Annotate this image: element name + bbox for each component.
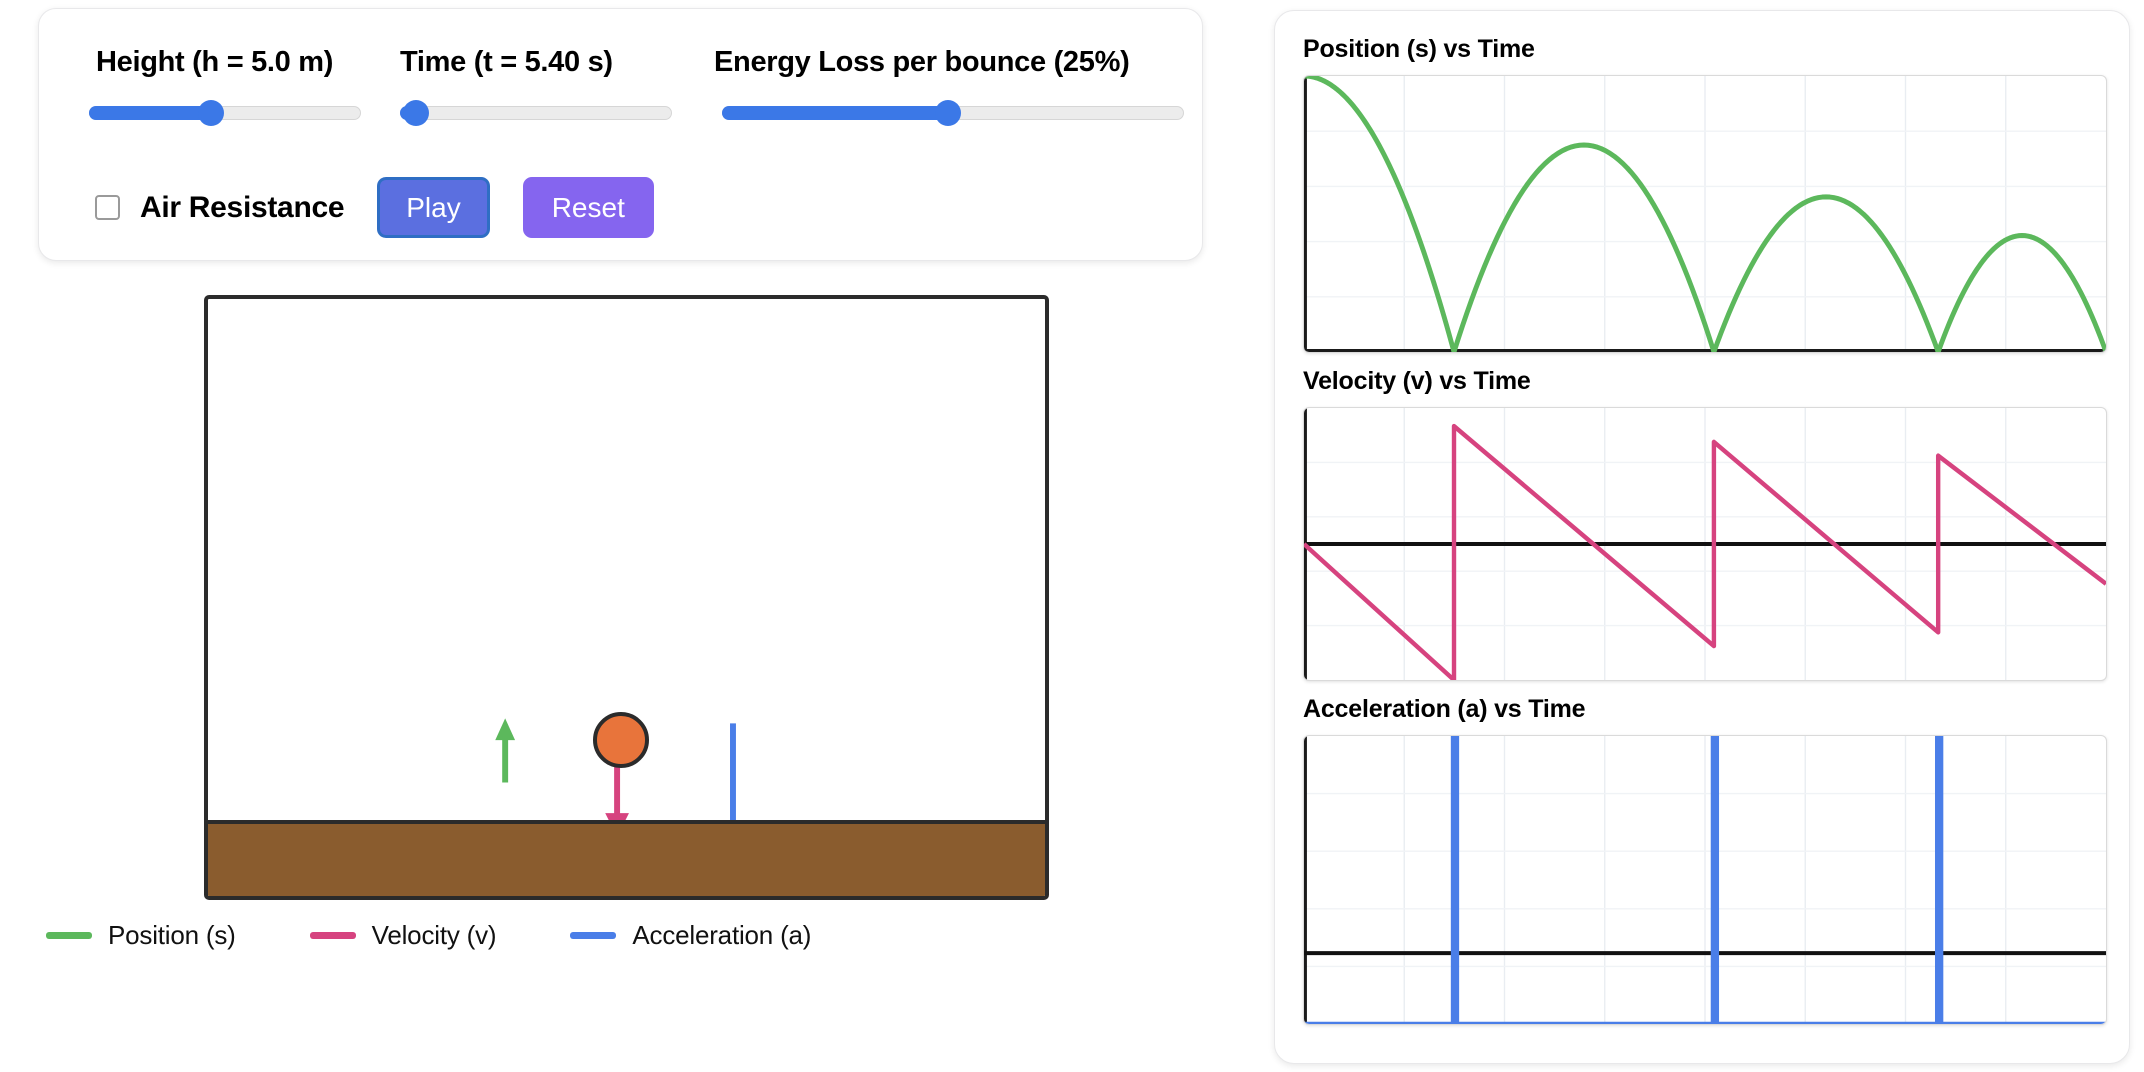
legend-label-position: Position (s): [108, 920, 236, 951]
air-resistance-checkbox[interactable]: [95, 195, 120, 220]
energy-loss-slider-thumb[interactable]: [935, 100, 961, 126]
legend-label-velocity: Velocity (v): [372, 920, 497, 951]
vector-arrows: [208, 299, 1045, 896]
velocity-chart-block: Velocity (v) vs Time: [1303, 367, 2107, 681]
slider-row: Height (h = 5.0 m) Time (t = 5.40 s): [63, 45, 1184, 125]
play-button[interactable]: Play: [377, 177, 489, 238]
velocity-chart-title: Velocity (v) vs Time: [1303, 367, 2107, 396]
acceleration-chart: [1304, 736, 2106, 1024]
time-slider-track[interactable]: [400, 106, 672, 120]
time-slider-group: Time (t = 5.40 s): [398, 45, 681, 125]
position-arrow: [495, 718, 515, 782]
left-column: Height (h = 5.0 m) Time (t = 5.40 s): [8, 8, 1236, 1064]
velocity-chart: [1304, 408, 2106, 680]
acceleration-color-swatch: [570, 932, 616, 939]
energy-loss-slider-label: Energy Loss per bounce (25%): [714, 45, 1184, 79]
ground: [208, 820, 1045, 896]
energy-loss-slider-fill: [722, 106, 948, 120]
acceleration-chart-title: Acceleration (a) vs Time: [1303, 695, 2107, 724]
velocity-color-swatch: [310, 932, 356, 939]
time-slider-label: Time (t = 5.40 s): [400, 45, 681, 79]
bouncing-ball: [593, 712, 649, 768]
position-chart-title: Position (s) vs Time: [1303, 35, 2107, 64]
simulation-canvas[interactable]: [204, 295, 1049, 900]
energy-loss-slider-group: Energy Loss per bounce (25%): [714, 45, 1184, 125]
position-chart-block: Position (s) vs Time: [1303, 35, 2107, 353]
legend-item-velocity: Velocity (v): [310, 920, 497, 951]
toggle-row: Air Resistance Play Reset: [95, 177, 654, 238]
height-slider-thumb[interactable]: [198, 100, 224, 126]
air-resistance-label: Air Resistance: [140, 191, 344, 225]
charts-panel: Position (s) vs Time Velocity (v) vs Tim…: [1274, 10, 2130, 1064]
legend-label-acceleration: Acceleration (a): [632, 920, 811, 951]
position-chart-frame: [1303, 75, 2107, 353]
reset-button[interactable]: Reset: [523, 177, 654, 238]
height-slider-group: Height (h = 5.0 m): [63, 45, 361, 125]
height-slider-fill: [89, 106, 211, 120]
legend-item-position: Position (s): [46, 920, 236, 951]
height-slider-label: Height (h = 5.0 m): [96, 45, 361, 79]
time-slider[interactable]: [400, 101, 672, 125]
legend: Position (s) Velocity (v) Acceleration (…: [46, 920, 885, 951]
velocity-chart-frame: [1303, 407, 2107, 681]
acceleration-chart-block: Acceleration (a) vs Time: [1303, 695, 2107, 1025]
app-root: Height (h = 5.0 m) Time (t = 5.40 s): [0, 0, 2144, 1072]
controls-panel: Height (h = 5.0 m) Time (t = 5.40 s): [38, 8, 1203, 261]
acceleration-chart-frame: [1303, 735, 2107, 1025]
position-chart: [1304, 76, 2106, 352]
time-slider-thumb[interactable]: [403, 100, 429, 126]
height-slider[interactable]: [89, 101, 361, 125]
legend-item-acceleration: Acceleration (a): [570, 920, 811, 951]
energy-loss-slider[interactable]: [722, 101, 1184, 125]
position-color-swatch: [46, 932, 92, 939]
